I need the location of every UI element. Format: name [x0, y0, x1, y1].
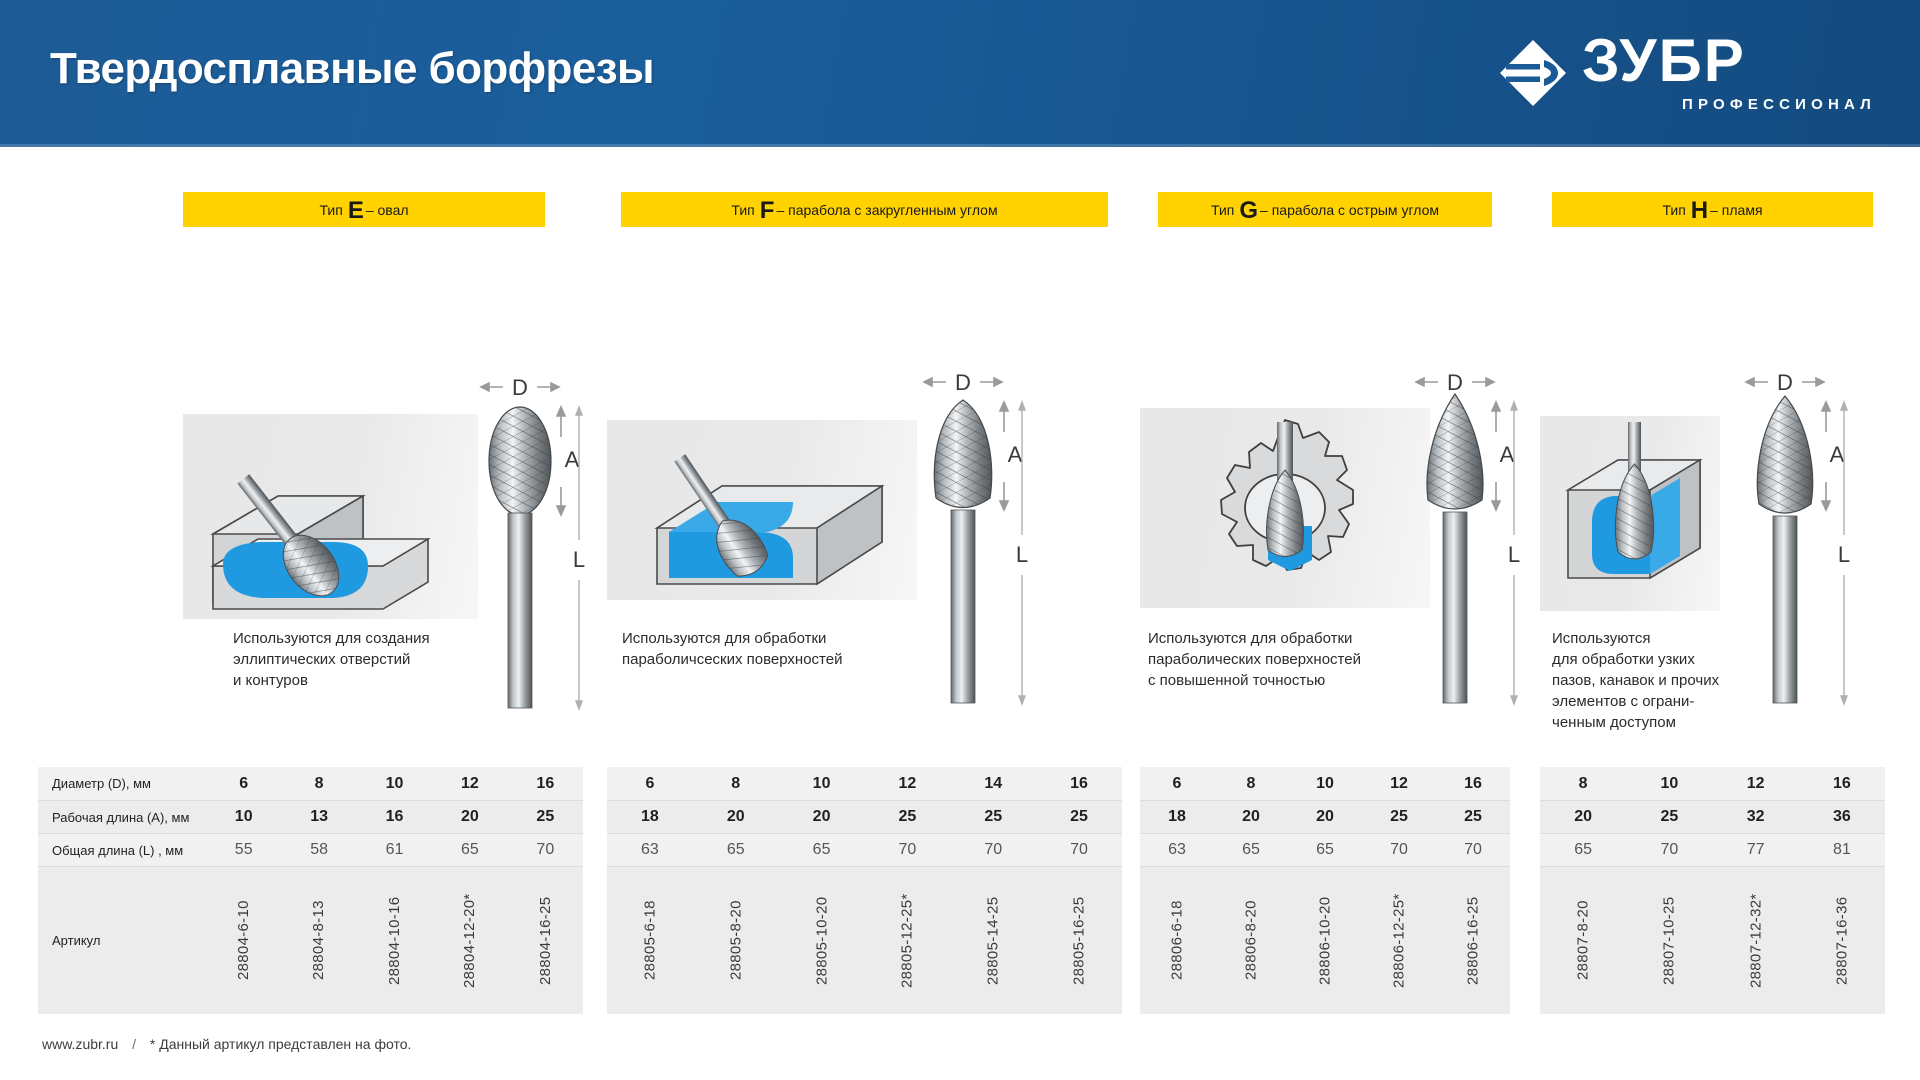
cell-article: 28805-10-20 [779, 873, 865, 1008]
cell-diameter: 8 [1540, 775, 1626, 793]
cell-diameter: 12 [864, 775, 950, 793]
panel-type-e: Тип E – овал [38, 147, 583, 670]
cell-working-length: 20 [779, 808, 865, 826]
svg-text:L: L [573, 547, 585, 572]
cell-total-length: 70 [950, 841, 1036, 859]
cell-article: 28804-12-20* [432, 873, 507, 1008]
cell-article: 28804-16-25 [508, 873, 583, 1008]
svg-text:A: A [1008, 442, 1023, 467]
cell-article: 28806-8-20 [1214, 873, 1288, 1008]
type-prefix: Тип [731, 202, 754, 218]
type-header-g: Тип G – парабола с острым углом [1158, 192, 1492, 227]
cell-article: 28807-16-36 [1799, 873, 1885, 1008]
cell-working-length: 20 [432, 808, 507, 826]
cell-working-length: 18 [1140, 808, 1214, 826]
application-scene-h [1540, 416, 1720, 611]
application-scene-f [607, 420, 917, 600]
svg-text:A: A [565, 447, 580, 472]
zubr-diamond-icon [1498, 38, 1568, 108]
type-description: – пламя [1710, 202, 1762, 218]
svg-text:L: L [1016, 542, 1028, 567]
cell-diameter: 14 [950, 775, 1036, 793]
table-row-diameter: Диаметр (D), мм 6 8 10 12 16 [38, 767, 583, 800]
cell-diameter: 10 [1626, 775, 1712, 793]
svg-text:D: D [1447, 370, 1463, 395]
cell-article: 28805-6-18 [607, 873, 693, 1008]
cell-diameter: 12 [432, 775, 507, 793]
cell-working-length: 20 [1288, 808, 1362, 826]
cell-article: 28807-12-32* [1713, 873, 1799, 1008]
table-row-working-length: 18 20 20 25 25 [1140, 800, 1510, 833]
table-row-working-length: 18 20 20 25 25 25 [607, 800, 1122, 833]
spec-table-g: 6 8 10 12 16 18 20 20 25 25 63 65 65 70 … [1140, 767, 1510, 1014]
burr-photo-e: D A L [475, 375, 585, 725]
cell-total-length: 77 [1713, 841, 1799, 859]
cell-total-length: 63 [1140, 841, 1214, 859]
table-row-diameter: 6 8 10 12 14 16 [607, 767, 1122, 800]
type-description: – парабола с острым углом [1260, 202, 1439, 218]
cell-article: 28804-6-10 [206, 873, 281, 1008]
table-row-total-length: 63 65 65 70 70 70 [607, 833, 1122, 866]
cell-total-length: 81 [1799, 841, 1885, 859]
panel-type-h: Тип H – пламя D [1540, 147, 1885, 670]
cell-working-length: 25 [1626, 808, 1712, 826]
cell-total-length: 55 [206, 841, 281, 859]
cell-total-length: 70 [1436, 841, 1510, 859]
application-scene-g [1140, 408, 1430, 608]
spec-table-h: 8 10 12 16 20 25 32 36 65 70 77 81 28807… [1540, 767, 1885, 1014]
page-footer: www.zubr.ru / * Данный артикул представл… [42, 1036, 411, 1052]
cell-article: 28807-10-25 [1626, 873, 1712, 1008]
cell-total-length: 61 [357, 841, 432, 859]
panel-type-f: Тип F – парабола с закругленным углом [607, 147, 1122, 670]
cell-working-length: 18 [607, 808, 693, 826]
logo-tagline: ПРОФЕССИОНАЛ [1682, 96, 1876, 113]
page-title: Твердосплавные борфрезы [50, 44, 654, 94]
cell-article: 28804-8-13 [281, 873, 356, 1008]
cell-diameter: 16 [1799, 775, 1885, 793]
table-row-article: 28807-8-20 28807-10-25 28807-12-32* 2880… [1540, 866, 1885, 1014]
cell-diameter: 16 [1036, 775, 1122, 793]
cell-diameter: 8 [693, 775, 779, 793]
cell-total-length: 65 [1540, 841, 1626, 859]
cell-working-length: 25 [864, 808, 950, 826]
footnote-text: * Данный артикул представлен на фото. [150, 1036, 411, 1052]
type-header-e: Тип E – овал [183, 192, 545, 227]
spec-table-e: Диаметр (D), мм 6 8 10 12 16 Рабочая дли… [38, 767, 583, 1014]
row-label-article: Артикул [38, 933, 206, 948]
cell-article: 28805-16-25 [1036, 873, 1122, 1008]
cell-total-length: 70 [864, 841, 950, 859]
illustration-h: D A L Используются для обработки [1540, 240, 1885, 670]
type-letter: E [348, 199, 364, 223]
cell-working-length: 13 [281, 808, 356, 826]
usage-description-g: Используются для обработки параболически… [1148, 628, 1418, 691]
table-row-diameter: 8 10 12 16 [1540, 767, 1885, 800]
type-prefix: Тип [1211, 202, 1234, 218]
table-row-total-length: Общая длина (L) , мм 55 58 61 65 70 [38, 833, 583, 866]
cell-total-length: 65 [1288, 841, 1362, 859]
burr-photo-g: D A L [1410, 370, 1520, 720]
type-description: – парабола с закругленным углом [776, 202, 997, 218]
type-letter: G [1239, 199, 1258, 223]
cell-total-length: 70 [1362, 841, 1436, 859]
table-row-article: Артикул 28804-6-10 28804-8-13 28804-10-1… [38, 866, 583, 1014]
svg-text:L: L [1838, 542, 1850, 567]
svg-text:A: A [1830, 442, 1845, 467]
cell-working-length: 36 [1799, 808, 1885, 826]
cell-working-length: 25 [950, 808, 1036, 826]
cell-working-length: 25 [1036, 808, 1122, 826]
cell-total-length: 70 [508, 841, 583, 859]
cell-diameter: 10 [357, 775, 432, 793]
table-row-total-length: 65 70 77 81 [1540, 833, 1885, 866]
cell-diameter: 6 [206, 775, 281, 793]
page-header: Твердосплавные борфрезы ЗУБР ПРОФЕССИОНА… [0, 0, 1920, 147]
application-scene-e [183, 414, 478, 619]
cell-working-length: 25 [1436, 808, 1510, 826]
panel-type-g: Тип G – парабола с острым углом [1140, 147, 1510, 670]
cell-diameter: 16 [508, 775, 583, 793]
cell-total-length: 63 [607, 841, 693, 859]
table-row-total-length: 63 65 65 70 70 [1140, 833, 1510, 866]
cell-total-length: 65 [693, 841, 779, 859]
brand-logo: ЗУБР ПРОФЕССИОНАЛ [1498, 30, 1878, 118]
cell-diameter: 6 [1140, 775, 1214, 793]
logo-wordmark: ЗУБР [1582, 30, 1746, 92]
burr-photo-f: D A L [918, 370, 1028, 720]
cell-total-length: 65 [779, 841, 865, 859]
cell-diameter: 6 [607, 775, 693, 793]
cell-article: 28805-14-25 [950, 873, 1036, 1008]
cell-article: 28807-8-20 [1540, 873, 1626, 1008]
cell-article: 28806-12-25* [1362, 873, 1436, 1008]
cell-working-length: 20 [1214, 808, 1288, 826]
cell-article: 28806-6-18 [1140, 873, 1214, 1008]
svg-text:D: D [955, 370, 971, 395]
svg-text:D: D [1777, 370, 1793, 395]
website-link[interactable]: www.zubr.ru [42, 1036, 118, 1052]
type-letter: H [1691, 199, 1708, 223]
table-row-working-length: 20 25 32 36 [1540, 800, 1885, 833]
cell-article: 28804-10-16 [357, 873, 432, 1008]
cell-working-length: 16 [357, 808, 432, 826]
cell-working-length: 20 [693, 808, 779, 826]
cell-total-length: 70 [1036, 841, 1122, 859]
usage-description-f: Используются для обработки параболичсеск… [622, 628, 922, 670]
type-prefix: Тип [1662, 202, 1685, 218]
cell-working-length: 25 [1362, 808, 1436, 826]
cell-total-length: 65 [1214, 841, 1288, 859]
burr-photo-h: D A L [1740, 370, 1850, 720]
svg-text:L: L [1508, 542, 1520, 567]
cell-diameter: 10 [1288, 775, 1362, 793]
cell-article: 28805-8-20 [693, 873, 779, 1008]
cell-diameter: 12 [1362, 775, 1436, 793]
illustration-f: D A L Используются для обработки [607, 240, 1122, 670]
cell-total-length: 65 [432, 841, 507, 859]
table-row-article: 28805-6-18 28805-8-20 28805-10-20 28805-… [607, 866, 1122, 1014]
type-header-h: Тип H – пламя [1552, 192, 1873, 227]
row-label-diameter: Диаметр (D), мм [38, 776, 206, 791]
cell-article: 28806-10-20 [1288, 873, 1362, 1008]
cell-diameter: 8 [281, 775, 356, 793]
type-description: – овал [366, 202, 409, 218]
cell-working-length: 32 [1713, 808, 1799, 826]
table-row-working-length: Рабочая длина (A), мм 10 13 16 20 25 [38, 800, 583, 833]
table-row-diameter: 6 8 10 12 16 [1140, 767, 1510, 800]
type-header-f: Тип F – парабола с закругленным углом [621, 192, 1108, 227]
cell-total-length: 70 [1626, 841, 1712, 859]
type-letter: F [760, 199, 775, 223]
table-row-article: 28806-6-18 28806-8-20 28806-10-20 28806-… [1140, 866, 1510, 1014]
cell-diameter: 12 [1713, 775, 1799, 793]
row-label-total-length: Общая длина (L) , мм [38, 843, 206, 858]
spec-table-f: 6 8 10 12 14 16 18 20 20 25 25 25 63 65 … [607, 767, 1122, 1014]
cell-diameter: 8 [1214, 775, 1288, 793]
cell-diameter: 10 [779, 775, 865, 793]
row-label-working-length: Рабочая длина (A), мм [38, 810, 206, 825]
cell-working-length: 25 [508, 808, 583, 826]
cell-working-length: 10 [206, 808, 281, 826]
svg-text:A: A [1500, 442, 1515, 467]
type-prefix: Тип [319, 202, 342, 218]
cell-working-length: 20 [1540, 808, 1626, 826]
svg-text:D: D [512, 375, 528, 400]
cell-article: 28806-16-25 [1436, 873, 1510, 1008]
usage-description-e: Используются для создания эллиптических … [233, 628, 483, 691]
footer-separator: / [132, 1036, 136, 1052]
illustration-g: D A L Используются для обработки [1140, 240, 1510, 670]
cell-total-length: 58 [281, 841, 356, 859]
cell-article: 28805-12-25* [864, 873, 950, 1008]
cell-diameter: 16 [1436, 775, 1510, 793]
illustration-e: D A L [38, 240, 583, 670]
usage-description-h: Используются для обработки узких пазов, … [1552, 628, 1732, 733]
